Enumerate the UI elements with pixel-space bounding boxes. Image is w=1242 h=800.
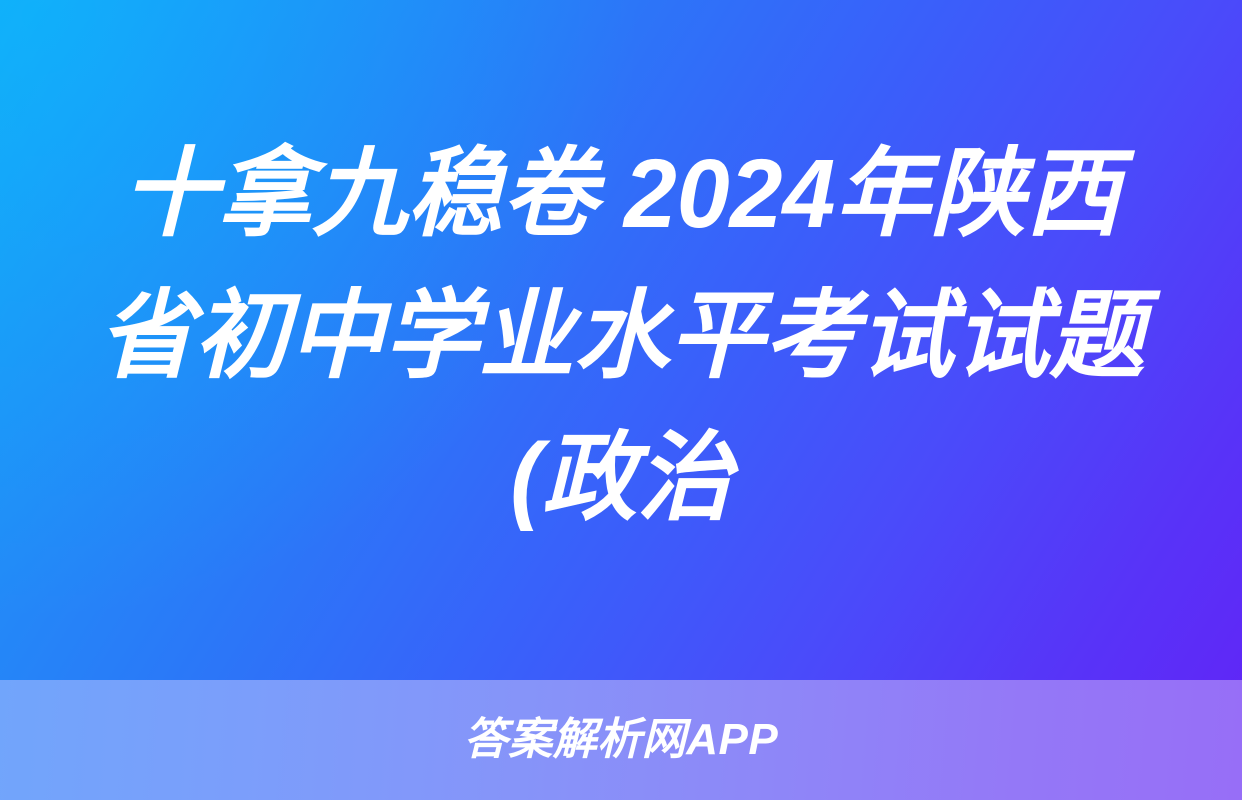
cover-card: 十拿九稳卷 2024年陕西 省初中学业水平考试试题 (政治 答案解析网APP: [0, 0, 1242, 800]
page-title-line-3: (政治: [510, 407, 732, 549]
page-title-line-1: 十拿九稳卷 2024年陕西: [122, 123, 1120, 265]
page-title-line-2: 省初中学业水平考试试题: [98, 265, 1144, 407]
brand-label: 答案解析网APP: [464, 718, 778, 762]
footer-brand-banner: 答案解析网APP: [0, 680, 1242, 800]
title-block: 十拿九稳卷 2024年陕西 省初中学业水平考试试题 (政治: [0, 0, 1242, 680]
